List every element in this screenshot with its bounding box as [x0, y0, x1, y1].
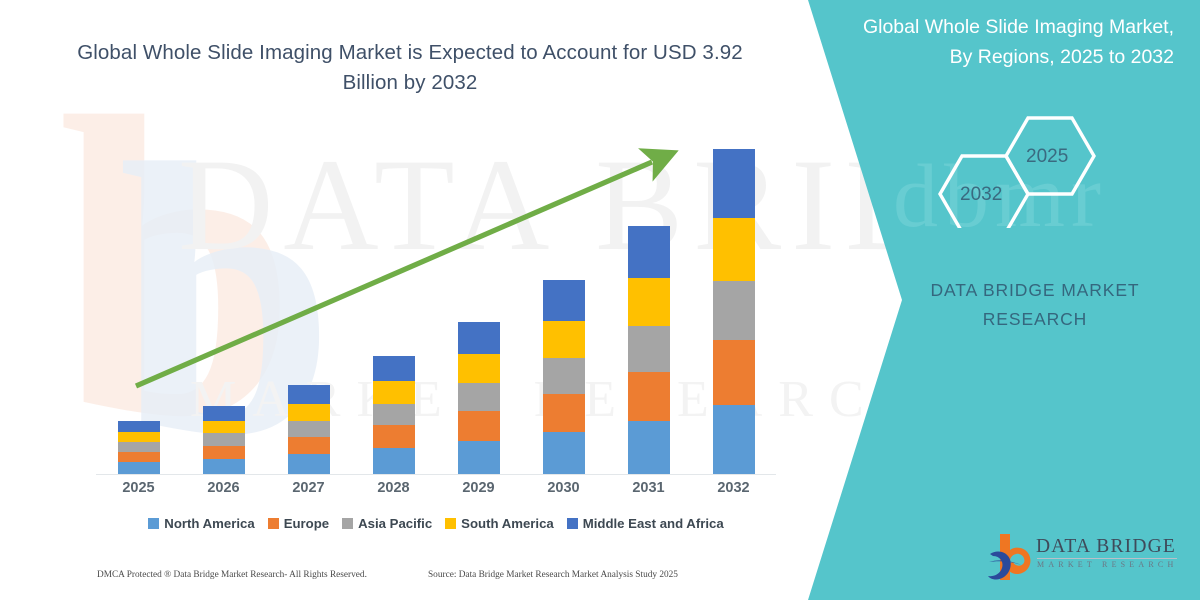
legend-label: Asia Pacific — [358, 516, 432, 531]
x-axis-label: 2030 — [521, 480, 606, 496]
bar-segment — [713, 218, 755, 281]
bar-column — [181, 140, 266, 474]
bar-segment — [628, 226, 670, 279]
legend-item[interactable]: North America — [148, 516, 254, 531]
bar-segment — [458, 411, 500, 441]
right-panel-brand: DATA BRIDGE MARKET RESEARCH — [890, 276, 1180, 334]
stacked-bar — [628, 226, 670, 474]
stacked-bar — [543, 280, 585, 474]
bar-segment — [543, 394, 585, 432]
bar-segment — [713, 405, 755, 474]
bar-segment — [458, 441, 500, 474]
right-panel-brand-line2: RESEARCH — [983, 309, 1087, 329]
right-panel-brand-line1: DATA BRIDGE MARKET — [930, 280, 1139, 300]
legend-item[interactable]: Asia Pacific — [342, 516, 432, 531]
legend-swatch-icon — [148, 518, 159, 529]
bar-segment — [713, 340, 755, 404]
bar-segment — [288, 421, 330, 437]
right-panel-title-line1: Global Whole Slide Imaging Market, — [863, 16, 1174, 38]
x-axis-label: 2032 — [691, 480, 776, 496]
bar-segment — [373, 356, 415, 381]
legend-swatch-icon — [445, 518, 456, 529]
legend-item[interactable]: Europe — [268, 516, 329, 531]
bar-segment — [118, 421, 160, 432]
bar-segment — [628, 372, 670, 421]
bar-segment — [118, 462, 160, 474]
bar-segment — [118, 432, 160, 442]
x-axis-label: 2026 — [181, 480, 266, 496]
stacked-bar-chart: 20252026202720282029203020312032 — [96, 140, 776, 475]
bar-column — [266, 140, 351, 474]
bar-segment — [628, 421, 670, 474]
legend-label: Europe — [284, 516, 329, 531]
right-panel-title-line2: By Regions, 2025 to 2032 — [950, 46, 1174, 68]
right-panel-title: Global Whole Slide Imaging Market, By Re… — [822, 12, 1174, 72]
hexagon-label-2025: 2025 — [1026, 146, 1068, 168]
bar-segment — [543, 432, 585, 474]
page-title: Global Whole Slide Imaging Market is Exp… — [60, 38, 760, 98]
legend-item[interactable]: South America — [445, 516, 554, 531]
bar-segment — [628, 326, 670, 371]
bar-segment — [203, 433, 245, 445]
legend-item[interactable]: Middle East and Africa — [567, 516, 724, 531]
legend-label: Middle East and Africa — [583, 516, 724, 531]
bar-segment — [373, 381, 415, 403]
chart-legend: North AmericaEuropeAsia PacificSouth Ame… — [96, 516, 776, 531]
bar-segment — [543, 358, 585, 394]
bar-segment — [628, 278, 670, 326]
logo-divider — [1037, 558, 1177, 559]
x-axis-label: 2025 — [96, 480, 181, 496]
logo-title: DATA BRIDGE — [1036, 536, 1176, 558]
bar-segment — [543, 321, 585, 358]
legend-label: South America — [461, 516, 554, 531]
bar-column — [351, 140, 436, 474]
infographic-root: b b DATA BRIDGE MARKET RESEARCH Global W… — [0, 0, 1200, 600]
footer-source: Source: Data Bridge Market Research Mark… — [428, 570, 678, 580]
stacked-bar — [713, 149, 755, 474]
legend-swatch-icon — [268, 518, 279, 529]
bar-segment — [118, 442, 160, 452]
footer-copyright: DMCA Protected ® Data Bridge Market Rese… — [97, 570, 367, 580]
legend-label: North America — [164, 516, 254, 531]
bar-segment — [288, 454, 330, 474]
logo-subtitle: MARKET RESEARCH — [1037, 560, 1177, 569]
legend-swatch-icon — [567, 518, 578, 529]
bar-segment — [373, 425, 415, 448]
bar-segment — [458, 322, 500, 354]
bar-segment — [203, 459, 245, 474]
data-bridge-logo: DATA BRIDGE MARKET RESEARCH — [988, 532, 1188, 588]
logo-mark-icon — [988, 532, 1036, 584]
x-axis-label: 2031 — [606, 480, 691, 496]
bar-segment — [203, 421, 245, 433]
bar-segment — [713, 149, 755, 218]
x-axis-labels: 20252026202720282029203020312032 — [96, 480, 776, 496]
bar-segment — [203, 406, 245, 420]
bar-group — [96, 140, 776, 474]
bar-column — [96, 140, 181, 474]
bar-column — [521, 140, 606, 474]
stacked-bar — [203, 406, 245, 474]
x-axis-label: 2029 — [436, 480, 521, 496]
bar-segment — [288, 404, 330, 421]
bar-segment — [458, 354, 500, 383]
hexagon-shapes — [920, 108, 1120, 228]
x-axis-label: 2028 — [351, 480, 436, 496]
bar-segment — [118, 452, 160, 463]
bar-segment — [203, 446, 245, 459]
bar-segment — [543, 280, 585, 321]
x-axis-line — [96, 474, 776, 475]
x-axis-label: 2027 — [266, 480, 351, 496]
stacked-bar — [118, 421, 160, 474]
bar-column — [606, 140, 691, 474]
stacked-bar — [373, 356, 415, 474]
bar-segment — [713, 281, 755, 341]
bar-column — [436, 140, 521, 474]
bar-column — [691, 140, 776, 474]
legend-swatch-icon — [342, 518, 353, 529]
bar-segment — [288, 385, 330, 404]
bar-segment — [373, 404, 415, 425]
stacked-bar — [288, 385, 330, 474]
bar-segment — [288, 437, 330, 455]
hexagon-group: 2025 2032 — [920, 108, 1120, 228]
hexagon-label-2032: 2032 — [960, 184, 1002, 206]
bar-segment — [373, 448, 415, 474]
stacked-bar — [458, 322, 500, 474]
bar-segment — [458, 383, 500, 411]
